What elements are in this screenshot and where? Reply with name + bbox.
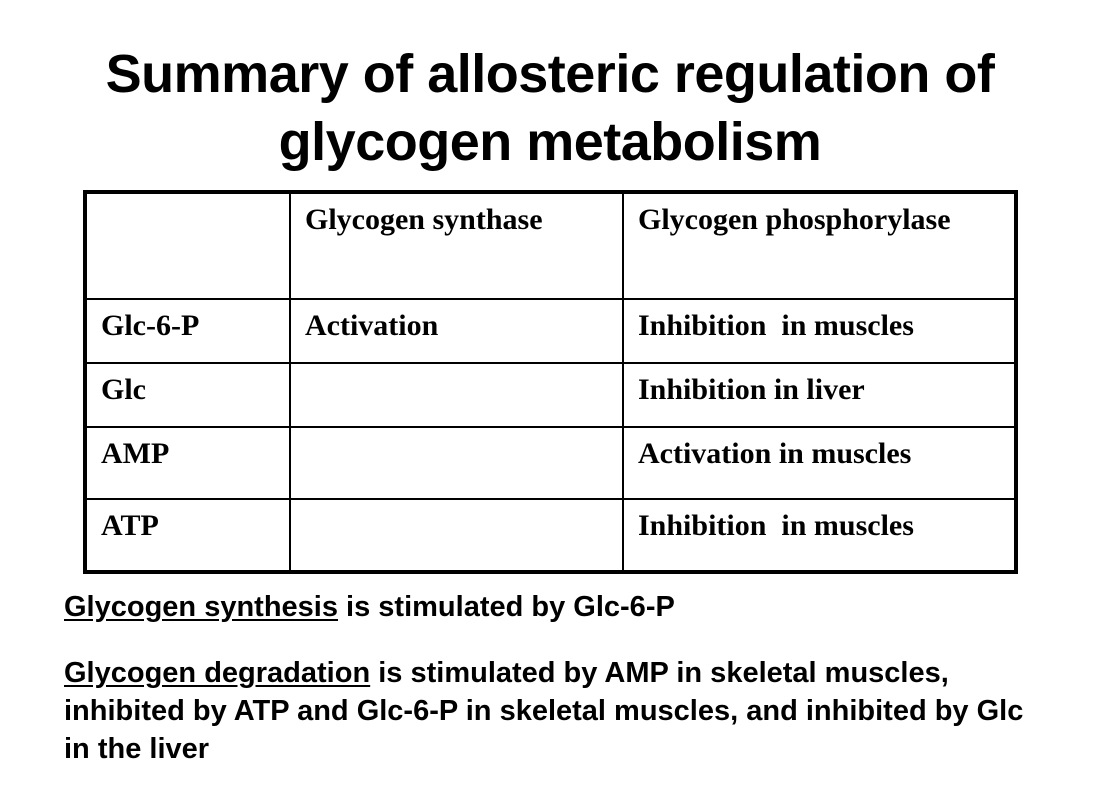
statement-glycogen-synthesis: Glycogen synthesis is stimulated by Glc-… bbox=[64, 588, 1054, 626]
regulation-table-container: Glycogen synthase Glycogen phosphorylase… bbox=[83, 190, 1014, 574]
cell-effector: Glc-6-P bbox=[85, 299, 290, 363]
table-header: Glycogen synthase Glycogen phosphorylase bbox=[85, 192, 1016, 299]
page-title-line-2: glycogen metabolism bbox=[0, 108, 1100, 176]
statement-lead-term: Glycogen synthesis bbox=[64, 591, 338, 623]
statement-glycogen-degradation: Glycogen degradation is stimulated by AM… bbox=[64, 654, 1054, 768]
column-header-glycogen-phosphorylase: Glycogen phosphorylase bbox=[623, 192, 1016, 299]
cell-glycogen-synthase: Activation bbox=[290, 299, 623, 363]
column-header-glycogen-synthase: Glycogen synthase bbox=[290, 192, 623, 299]
statement-body-text: is stimulated by Glc-6-P bbox=[338, 591, 675, 623]
cell-glycogen-phosphorylase: Activation in muscles bbox=[623, 427, 1016, 499]
cell-effector: AMP bbox=[85, 427, 290, 499]
page-title-line-1: Summary of allosteric regulation of bbox=[0, 40, 1100, 108]
page-title: Summary of allosteric regulation of glyc… bbox=[0, 40, 1100, 176]
cell-effector: Glc bbox=[85, 363, 290, 427]
table-header-row: Glycogen synthase Glycogen phosphorylase bbox=[85, 192, 1016, 299]
table-body: Glc-6-P Activation Inhibition in muscles… bbox=[85, 299, 1016, 572]
cell-glycogen-synthase bbox=[290, 499, 623, 572]
summary-statements: Glycogen synthesis is stimulated by Glc-… bbox=[64, 588, 1054, 768]
table-row: ATP Inhibition in muscles bbox=[85, 499, 1016, 572]
cell-glycogen-synthase bbox=[290, 363, 623, 427]
cell-glycogen-phosphorylase: Inhibition in muscles bbox=[623, 299, 1016, 363]
allosteric-regulation-table: Glycogen synthase Glycogen phosphorylase… bbox=[83, 190, 1018, 574]
table-row: Glc-6-P Activation Inhibition in muscles bbox=[85, 299, 1016, 363]
table-row: Glc Inhibition in liver bbox=[85, 363, 1016, 427]
cell-effector: ATP bbox=[85, 499, 290, 572]
cell-glycogen-phosphorylase: Inhibition in liver bbox=[623, 363, 1016, 427]
cell-glycogen-synthase bbox=[290, 427, 623, 499]
cell-glycogen-phosphorylase: Inhibition in muscles bbox=[623, 499, 1016, 572]
table-row: AMP Activation in muscles bbox=[85, 427, 1016, 499]
column-header-effector bbox=[85, 192, 290, 299]
statement-lead-term: Glycogen degradation bbox=[64, 657, 370, 689]
